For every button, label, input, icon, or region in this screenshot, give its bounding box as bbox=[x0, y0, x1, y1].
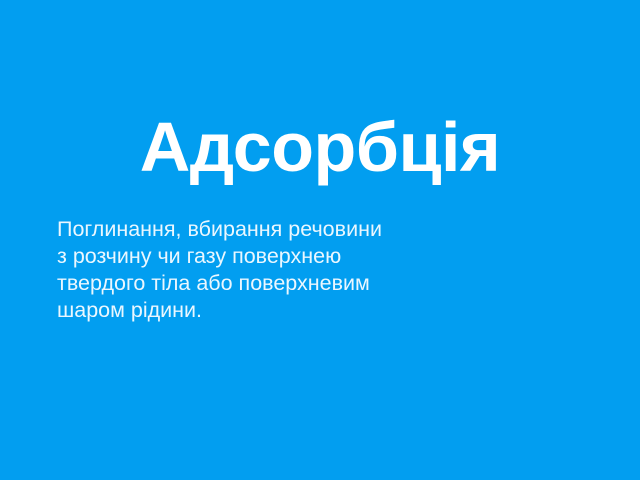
slide-definition-text: Поглинання, вбирання речовини з розчину … bbox=[57, 216, 527, 324]
definition-line: Поглинання, вбирання речовини bbox=[57, 216, 527, 243]
page-title: Адсорбція bbox=[0, 109, 640, 185]
definition-line: з розчину чи газу поверхнею bbox=[57, 243, 527, 270]
definition-line: шаром рідини. bbox=[57, 297, 527, 324]
slide-canvas: Адсорбція Поглинання, вбирання речовини … bbox=[0, 0, 640, 480]
definition-line: твердого тіла або поверхневим bbox=[57, 270, 527, 297]
